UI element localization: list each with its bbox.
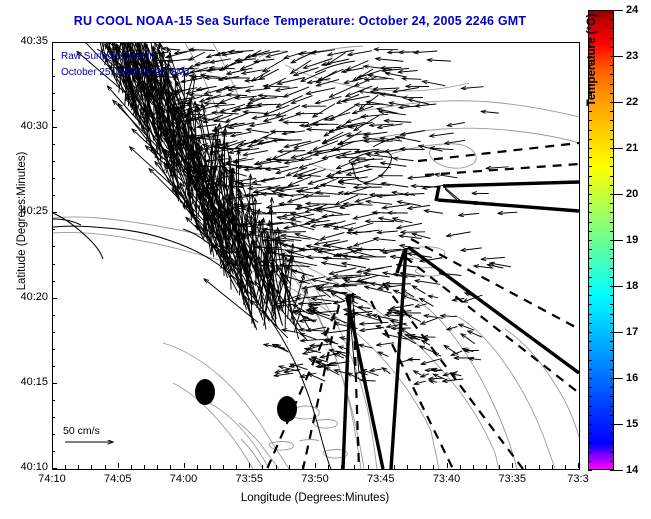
current-vector: [434, 353, 441, 356]
current-vector: [329, 85, 355, 97]
current-vector: [321, 233, 345, 240]
colorbar-minor-tick: [610, 28, 614, 29]
current-vector: [408, 205, 430, 208]
colorbar-tick-mark: [614, 424, 623, 425]
colorbar-minor-tick: [588, 194, 592, 195]
colorbar-minor-tick: [588, 212, 592, 213]
colorbar-tick-mark: [614, 102, 623, 103]
current-vector: [398, 71, 418, 73]
annotation-timestamp: October 25, 2005 00:00 GMT: [61, 67, 191, 78]
colorbar-minor-tick: [588, 286, 592, 287]
current-vector: [382, 204, 409, 208]
colorbar-minor-tick: [610, 332, 614, 333]
current-vector: [388, 310, 399, 311]
current-vector: [243, 151, 268, 156]
x-axis-label: Longitude (Degrees:Minutes): [52, 492, 578, 504]
current-vector: [402, 79, 421, 80]
current-vector: [428, 296, 438, 298]
current-vector: [278, 151, 305, 152]
colorbar-minor-tick: [610, 240, 614, 241]
colorbar-tick-label: 23: [626, 50, 638, 62]
colorbar-minor-tick: [610, 157, 614, 158]
current-vector: [342, 68, 364, 72]
colorbar-minor-tick: [610, 130, 614, 131]
current-vector: [342, 96, 369, 101]
colorbar-tick-label: 16: [626, 372, 638, 384]
current-vector: [461, 87, 483, 89]
colorbar-minor-tick: [588, 231, 592, 232]
colorbar-minor-tick: [588, 268, 592, 269]
x-axis-minor-tick: [354, 465, 355, 470]
current-vector: [429, 378, 443, 379]
x-axis-tick-label: 74:00: [154, 473, 214, 485]
current-vector: [374, 239, 396, 241]
current-vector: [291, 213, 320, 221]
colorbar-minor-tick: [610, 139, 614, 140]
y-axis-tick-label: 40:35: [0, 35, 48, 47]
current-vector: [441, 316, 457, 317]
y-axis-tick-mark: [52, 383, 57, 384]
colorbar-tick-mark: [614, 470, 623, 471]
current-vector: [286, 168, 307, 176]
y-axis-minor-tick: [52, 349, 55, 350]
colorbar-minor-tick: [610, 350, 614, 351]
x-axis-tick-label: 73:45: [351, 473, 411, 485]
x-axis-tick-label: 73:50: [285, 473, 345, 485]
radar-site-markers: [195, 379, 297, 422]
x-axis-minor-tick: [91, 465, 92, 470]
current-vector: [310, 345, 328, 346]
current-vector: [321, 185, 345, 188]
x-axis-ticks: 74:1074:0574:0073:5573:5073:4573:4073:35…: [0, 473, 651, 493]
current-vector: [353, 313, 380, 321]
current-vector: [408, 176, 431, 178]
colorbar-minor-tick: [588, 304, 592, 305]
colorbar-minor-tick: [588, 240, 592, 241]
x-axis-minor-tick: [486, 465, 487, 470]
colorbar-minor-tick: [610, 396, 614, 397]
scale-arrow-label: 50 cm/s: [63, 425, 100, 437]
x-axis-minor-tick: [499, 465, 500, 470]
x-axis-tick-mark: [381, 463, 382, 468]
current-vector: [330, 106, 355, 121]
colorbar-minor-tick: [610, 102, 614, 103]
x-axis-tick-label: 73:55: [219, 473, 279, 485]
colorbar-minor-tick: [610, 461, 614, 462]
colorbar-tick-mark: [614, 56, 623, 57]
colorbar-minor-tick: [610, 120, 614, 121]
colorbar-tick-label: 17: [626, 326, 638, 338]
current-vector: [309, 359, 326, 368]
current-vector: [322, 59, 349, 65]
colorbar-tick-label: 14: [626, 464, 638, 476]
current-vector: [257, 104, 281, 105]
colorbar-minor-tick: [588, 452, 592, 453]
current-vector: [412, 286, 425, 294]
current-vector: [197, 86, 217, 89]
current-vector: [307, 129, 333, 130]
current-vector: [205, 103, 227, 104]
current-vector: [339, 346, 347, 348]
colorbar-minor-tick: [610, 93, 614, 94]
current-vector: [353, 230, 380, 233]
current-vector: [400, 149, 425, 150]
colorbar-minor-tick: [610, 369, 614, 370]
current-vector: [274, 373, 293, 376]
current-vector: [481, 111, 499, 113]
colorbar-minor-tick: [610, 74, 614, 75]
x-axis-minor-tick: [552, 465, 553, 470]
current-vector: [447, 123, 465, 126]
colorbar-tick-mark: [614, 378, 623, 379]
colorbar-minor-tick: [610, 10, 614, 11]
x-axis-minor-tick: [341, 465, 342, 470]
colorbar-minor-tick: [610, 424, 614, 425]
current-vector: [279, 204, 301, 205]
y-axis-minor-tick: [52, 451, 55, 452]
current-vector: [414, 381, 425, 384]
current-vector: [381, 67, 402, 68]
y-axis-minor-tick: [52, 76, 55, 77]
current-vector: [323, 258, 350, 259]
current-vector: [373, 88, 399, 89]
x-axis-tick-label: 73:35: [482, 473, 542, 485]
colorbar-minor-tick: [588, 350, 592, 351]
colorbar-minor-tick: [588, 461, 592, 462]
x-axis-minor-tick: [197, 465, 198, 470]
current-vector: [377, 231, 397, 233]
current-vector: [407, 315, 421, 322]
current-vector: [325, 113, 350, 120]
colorbar-minor-tick: [588, 378, 592, 379]
current-vector: [264, 105, 289, 115]
colorbar-minor-tick: [588, 360, 592, 361]
colorbar-minor-tick: [588, 185, 592, 186]
colorbar-minor-tick: [610, 194, 614, 195]
y-axis-minor-tick: [52, 434, 55, 435]
x-axis-tick-mark: [315, 463, 316, 468]
colorbar-tick-mark: [614, 194, 623, 195]
current-vector: [498, 212, 518, 213]
current-vector: [246, 88, 271, 91]
colorbar-minor-tick: [588, 387, 592, 388]
x-axis-tick-mark: [118, 463, 119, 468]
current-vector: [421, 318, 438, 324]
y-axis-minor-tick: [52, 161, 55, 162]
y-axis-tick-mark: [52, 298, 57, 299]
x-axis-minor-tick: [420, 465, 421, 470]
colorbar-tick-label: 24: [626, 4, 638, 16]
colorbar-minor-tick: [610, 84, 614, 85]
y-axis-tick-label: 40:15: [0, 376, 48, 388]
colorbar-minor-tick: [610, 231, 614, 232]
colorbar-label: Temperature (°C): [586, 0, 598, 150]
x-axis-minor-tick: [407, 465, 408, 470]
current-vector: [339, 193, 368, 195]
y-axis-minor-tick: [52, 93, 55, 94]
colorbar-minor-tick: [588, 433, 592, 434]
colorbar-tick-label: 20: [626, 188, 638, 200]
current-vector: [282, 245, 308, 250]
y-axis-minor-tick: [52, 400, 55, 401]
current-vector: [242, 70, 264, 74]
colorbar-minor-tick: [610, 258, 614, 259]
current-vector: [339, 183, 362, 185]
current-vector: [404, 194, 425, 195]
x-axis-minor-tick: [539, 465, 540, 470]
current-vector: [319, 69, 344, 81]
y-axis-minor-tick: [52, 246, 55, 247]
x-axis-minor-tick: [302, 465, 303, 470]
current-vector: [333, 275, 361, 276]
colorbar-minor-tick: [588, 332, 592, 333]
colorbar-minor-tick: [588, 249, 592, 250]
x-axis-tick-label: 73:3: [548, 473, 608, 485]
colorbar-minor-tick: [588, 222, 592, 223]
current-vector: [381, 163, 407, 167]
current-vector: [316, 96, 342, 103]
x-axis-minor-tick: [328, 465, 329, 470]
colorbar-minor-tick: [610, 176, 614, 177]
current-vector: [237, 167, 260, 168]
x-axis-minor-tick: [144, 465, 145, 470]
x-axis-minor-tick: [473, 465, 474, 470]
colorbar-minor-tick: [588, 341, 592, 342]
current-vector: [399, 236, 422, 239]
current-vector: [354, 116, 379, 131]
current-vector: [461, 334, 475, 344]
colorbar-minor-tick: [588, 258, 592, 259]
colorbar-minor-tick: [610, 378, 614, 379]
current-vector: [429, 381, 437, 382]
current-vector: [315, 240, 340, 245]
colorbar-minor-tick: [610, 56, 614, 57]
current-vector: [235, 140, 256, 148]
y-axis-tick-mark: [52, 212, 57, 213]
current-vector: [285, 257, 286, 329]
colorbar-minor-tick: [588, 369, 592, 370]
current-vector: [355, 104, 384, 105]
current-vector: [459, 324, 475, 330]
current-vector: [384, 121, 411, 123]
colorbar-tick-mark: [614, 10, 623, 11]
current-vector: [355, 195, 378, 202]
current-vector: [251, 301, 288, 338]
x-axis-tick-mark: [447, 463, 448, 468]
current-vector: [337, 160, 358, 169]
y-axis-minor-tick: [52, 229, 55, 230]
current-vector: [421, 359, 441, 365]
current-vector: [427, 60, 451, 61]
current-vector: [414, 371, 422, 375]
x-axis-minor-tick: [394, 465, 395, 470]
colorbar-minor-tick: [610, 415, 614, 416]
current-vector: [353, 213, 380, 219]
y-axis-minor-tick: [52, 195, 55, 196]
current-vector: [421, 374, 429, 377]
colorbar-minor-tick: [610, 111, 614, 112]
radar-beam-outline: [349, 186, 463, 373]
colorbar-minor-tick: [588, 166, 592, 167]
current-vector: [397, 202, 420, 206]
current-vector: [376, 59, 404, 62]
current-vector: [335, 195, 358, 205]
x-axis-minor-tick: [65, 465, 66, 470]
colorbar-minor-tick: [588, 470, 592, 471]
colorbar-minor-tick: [588, 314, 592, 315]
colorbar-minor-tick: [610, 203, 614, 204]
x-axis-minor-tick: [105, 465, 106, 470]
current-vector: [176, 88, 198, 92]
current-vector: [336, 157, 366, 158]
colorbar-minor-tick: [610, 38, 614, 39]
colorbar-minor-tick: [588, 396, 592, 397]
colorbar-minor-tick: [610, 295, 614, 296]
current-vector: [190, 95, 213, 96]
current-vector: [444, 345, 458, 354]
y-axis-minor-tick: [52, 417, 55, 418]
radar-site-marker: [195, 379, 215, 405]
colorbar-minor-tick: [610, 304, 614, 305]
x-axis-minor-tick: [433, 465, 434, 470]
current-vector: [306, 204, 335, 205]
colorbar-tick-label: 18: [626, 280, 638, 292]
colorbar-tick-mark: [614, 332, 623, 333]
current-vector: [424, 211, 443, 214]
colorbar-minor-tick: [588, 406, 592, 407]
colorbar-minor-tick: [610, 341, 614, 342]
current-vector: [366, 102, 392, 106]
colorbar-minor-tick: [588, 277, 592, 278]
colorbar-minor-tick: [588, 323, 592, 324]
current-vector: [301, 339, 327, 341]
colorbar-minor-tick: [610, 314, 614, 315]
current-vector: [443, 379, 463, 381]
colorbar-minor-tick: [610, 323, 614, 324]
current-vector: [447, 327, 457, 330]
colorbar-minor-tick: [588, 157, 592, 158]
current-vector: [217, 86, 236, 92]
current-vector: [322, 214, 350, 216]
current-vector: [447, 232, 471, 236]
y-axis-minor-tick: [52, 366, 55, 367]
current-vector: [361, 114, 388, 117]
plot-area: Raw Surface Current October 25, 2005 00:…: [52, 42, 580, 470]
current-vector: [365, 166, 391, 168]
colorbar-minor-tick: [588, 424, 592, 425]
current-vector: [386, 73, 406, 77]
current-vector: [360, 322, 389, 324]
y-axis-minor-tick: [52, 144, 55, 145]
y-axis-tick-mark: [52, 127, 57, 128]
colorbar-minor-tick: [610, 470, 614, 471]
current-vector: [401, 131, 425, 135]
current-vector: [344, 204, 373, 205]
colorbar-minor-tick: [588, 295, 592, 296]
chart-title: RU COOL NOAA-15 Sea Surface Temperature:…: [0, 14, 600, 28]
x-axis-minor-tick: [157, 465, 158, 470]
current-vector: [210, 59, 231, 63]
x-axis-minor-tick: [78, 465, 79, 470]
current-vector: [486, 167, 508, 169]
current-vector: [326, 225, 352, 230]
current-vector: [227, 68, 253, 74]
x-axis-minor-tick: [223, 465, 224, 470]
current-vector: [275, 369, 290, 373]
current-vector: [279, 366, 299, 371]
y-axis-minor-tick: [52, 178, 55, 179]
current-vector: [461, 248, 482, 251]
current-vector: [445, 140, 465, 143]
current-vector: [481, 257, 505, 259]
x-axis-tick-mark: [184, 463, 185, 468]
x-axis-tick-label: 74:10: [22, 473, 82, 485]
current-vector: [323, 132, 344, 143]
current-vector: [424, 316, 443, 319]
current-vector: [367, 315, 377, 316]
x-axis-minor-tick: [368, 465, 369, 470]
colorbar-minor-tick: [610, 406, 614, 407]
colorbar-tick-label: 19: [626, 234, 638, 246]
colorbar-minor-tick: [610, 19, 614, 20]
current-vector: [313, 104, 335, 118]
x-axis-minor-tick: [131, 465, 132, 470]
current-vector: [331, 317, 346, 323]
current-vector: [401, 232, 425, 233]
colorbar-minor-tick: [610, 222, 614, 223]
current-vector: [306, 88, 335, 94]
current-vector: [277, 78, 305, 85]
y-axis-minor-tick: [52, 281, 55, 282]
colorbar-minor-tick: [610, 268, 614, 269]
colorbar-tick-mark: [614, 148, 623, 149]
current-vector: [329, 268, 356, 274]
current-vector: [277, 232, 306, 233]
current-vector: [360, 328, 381, 331]
current-vector: [268, 212, 296, 213]
current-vector: [370, 369, 382, 371]
y-axis-tick-mark: [52, 42, 57, 43]
current-vector: [472, 203, 493, 204]
x-axis-tick-label: 73:40: [417, 473, 477, 485]
x-axis-minor-tick: [525, 465, 526, 470]
current-vector: [354, 239, 376, 246]
colorbar-minor-tick: [610, 433, 614, 434]
current-vector: [338, 140, 366, 144]
colorbar-minor-tick: [610, 166, 614, 167]
y-axis-tick-label: 40:10: [0, 461, 48, 473]
current-vector: [207, 52, 225, 58]
map-vector-field: [53, 43, 579, 469]
colorbar-tick-mark: [614, 286, 623, 287]
colorbar-minor-tick: [610, 442, 614, 443]
x-axis-tick-label: 74:05: [88, 473, 148, 485]
current-vector: [356, 159, 383, 160]
colorbar-tick-label: 15: [626, 418, 638, 430]
x-axis-minor-tick: [210, 465, 211, 470]
current-vector: [490, 263, 511, 267]
figure-canvas: RU COOL NOAA-15 Sea Surface Temperature:…: [0, 0, 651, 519]
radar-site-marker: [277, 396, 297, 422]
x-axis-minor-tick: [276, 465, 277, 470]
colorbar-minor-tick: [610, 452, 614, 453]
y-axis-minor-tick: [52, 332, 55, 333]
x-axis-minor-tick: [565, 465, 566, 470]
colorbar-tick-label: 21: [626, 142, 638, 154]
colorbar-minor-tick: [610, 360, 614, 361]
colorbar-minor-tick: [610, 277, 614, 278]
x-axis-tick-mark: [512, 463, 513, 468]
